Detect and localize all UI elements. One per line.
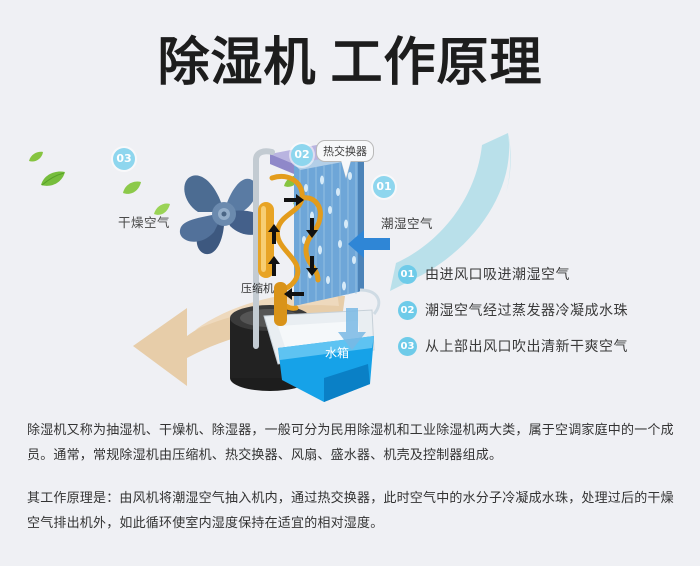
- water-tank-label: 水箱: [325, 344, 349, 361]
- list-item: 02 潮湿空气经过蒸发器冷凝成水珠: [398, 292, 688, 328]
- heat-exchanger-callout: 热交换器: [316, 140, 374, 162]
- list-item: 01 由进风口吸进潮湿空气: [398, 256, 688, 292]
- list-item: 03 从上部出风口吹出清新干爽空气: [398, 328, 688, 364]
- body-paragraph-2: 其工作原理是：由风机将潮湿空气抽入机内，通过热交换器，此时空气中的水分子冷凝成水…: [27, 486, 677, 536]
- legend-text-03: 从上部出风口吹出清新干爽空气: [425, 336, 628, 356]
- legend-badge-01: 01: [398, 265, 417, 284]
- leaf-icon: [28, 150, 44, 164]
- page-title: 除湿机工作原理: [0, 32, 700, 94]
- diagram-badge-01: 01: [373, 176, 395, 198]
- legend-badge-02: 02: [398, 301, 417, 320]
- legend-text-02: 潮湿空气经过蒸发器冷凝成水珠: [425, 300, 628, 320]
- dehumidifier-unit: [212, 140, 392, 402]
- humid-air-label: 潮湿空气: [381, 213, 433, 232]
- leaf-icon: [122, 180, 142, 196]
- body-paragraph-1: 除湿机又称为抽湿机、干燥机、除湿器，一般可分为民用除湿机和工业除湿机两大类，属于…: [27, 418, 677, 468]
- legend-list: 01 由进风口吸进潮湿空气 02 潮湿空气经过蒸发器冷凝成水珠 03 从上部出风…: [398, 256, 688, 364]
- body-copy: 除湿机又称为抽湿机、干燥机、除湿器，一般可分为民用除湿机和工业除湿机两大类，属于…: [27, 418, 677, 536]
- legend-text-01: 由进风口吸进潮湿空气: [425, 264, 570, 284]
- page-root: 除湿机工作原理: [0, 0, 700, 566]
- leaf-icon: [40, 170, 66, 188]
- diagram-badge-02: 02: [291, 144, 313, 166]
- page-title-part1: 除湿机: [157, 33, 316, 93]
- dry-air-label: 干燥空气: [118, 212, 170, 231]
- diagram-badge-03: 03: [113, 148, 135, 170]
- legend-badge-03: 03: [398, 337, 417, 356]
- page-title-part2: 工作原理: [331, 33, 543, 93]
- compressor-label: 压缩机: [241, 280, 274, 296]
